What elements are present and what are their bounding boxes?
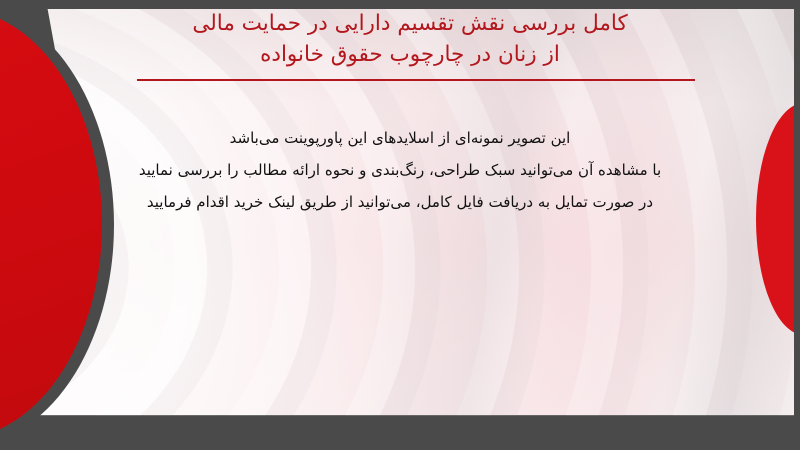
slide-body-line-2: با مشاهده آن می‌توانید سبک طراحی، رنگ‌بن… (90, 154, 710, 186)
slide-body-line-1: این تصویر نمونه‌ای از اسلایدهای این پاور… (90, 122, 710, 154)
frame-top-band (0, 0, 800, 9)
background-sweep-highlight (0, 9, 794, 441)
slide-title: کامل بررسی نقش تقسیم دارایی در حمایت مال… (120, 8, 700, 70)
slide: کامل بررسی نقش تقسیم دارایی در حمایت مال… (0, 0, 800, 450)
slide-background-panel (0, 9, 794, 441)
slide-title-line-1: کامل بررسی نقش تقسیم دارایی در حمایت مال… (120, 8, 700, 39)
title-underline-rule (137, 79, 695, 81)
panel-bottom-hairline (0, 439, 794, 441)
slide-title-line-2: از زنان در چارچوب حقوق خانواده (120, 39, 700, 70)
slide-body-line-3: در صورت تمایل به دریافت فایل کامل، می‌تو… (90, 186, 710, 218)
frame-right-band (794, 0, 800, 450)
slide-body-text: این تصویر نمونه‌ای از اسلایدهای این پاور… (90, 122, 710, 218)
